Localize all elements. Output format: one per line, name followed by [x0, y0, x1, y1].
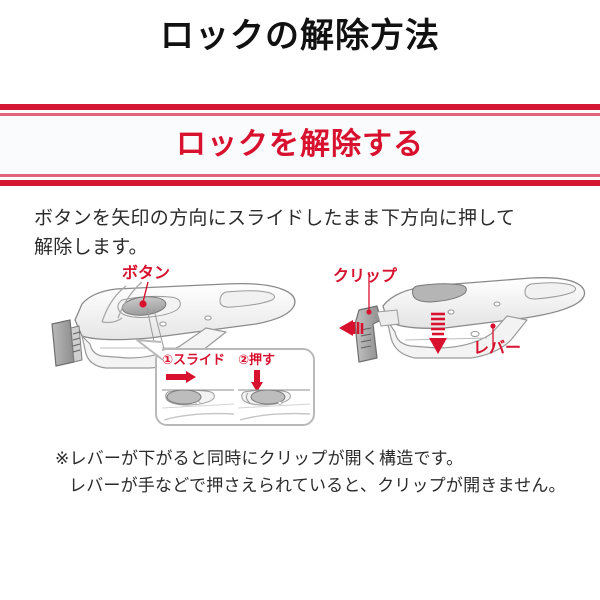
label-button: ボタン	[122, 265, 170, 281]
rivet-hole-1	[160, 322, 166, 326]
callout-panel-press: ②押す	[238, 354, 310, 422]
callout-panel-slide: ①スライド	[162, 354, 234, 422]
instruction-paragraph: ボタンを矢印の方向にスライドしたまま下方向に押して 解除します。	[34, 204, 574, 262]
clip-hinge-block	[377, 310, 399, 326]
callout-panel-press-label: ②押す	[238, 354, 310, 368]
arrow-down-icon	[251, 370, 263, 392]
note-line-2: レバーが手などで押さえられていると、クリップが開きません。	[55, 473, 575, 500]
rivet-hole-3	[471, 331, 479, 336]
label-clip: クリップ	[333, 268, 397, 284]
banner-rule-top-thin	[0, 113, 600, 116]
page-root: ロックの解除方法 ロックを解除する ボタンを矢印の方向にスライドしたまま下方向に…	[0, 0, 600, 600]
banner-rule-bottom-thin	[0, 174, 600, 177]
rivet-hole-2	[494, 302, 500, 306]
section-heading: ロックを解除する	[0, 121, 600, 169]
instruction-line-2: 解除します。	[34, 233, 574, 262]
callout-tail	[135, 338, 165, 364]
clip-jaw-outer	[52, 320, 74, 366]
callout-box: ①スライド ②押す	[155, 348, 315, 426]
note-block: ※レバーが下がると同時にクリップが開く構造です。 レバーが手などで押さえられてい…	[55, 446, 575, 500]
illustration-right-clip-lever: クリップ レバー	[325, 262, 590, 382]
panel-rivet	[196, 402, 200, 405]
clip-marker-dot	[366, 309, 371, 314]
note-line-1: ※レバーが下がると同時にクリップが開く構造です。	[55, 446, 575, 473]
arrow-left-dashed-icon	[339, 320, 362, 336]
panel-rivet	[278, 402, 282, 405]
callout-press-diagram	[238, 370, 310, 422]
panel-slide-button	[167, 390, 201, 404]
label-lever: レバー	[473, 340, 521, 356]
rivet-hole-2	[205, 316, 211, 320]
callout-panel-slide-label: ①スライド	[162, 354, 234, 368]
banner-rule-top-thick	[0, 104, 600, 110]
page-title: ロックの解除方法	[0, 14, 600, 58]
panel-lower-curve	[240, 414, 310, 420]
panel-lower-curve	[164, 414, 234, 420]
rivet-hole-1	[448, 310, 454, 314]
instruction-line-1: ボタンを矢印の方向にスライドしたまま下方向に押して	[34, 204, 574, 233]
section-banner: ロックを解除する	[0, 104, 600, 186]
callout-slide-diagram	[162, 370, 234, 422]
arrow-right-icon	[166, 371, 196, 383]
banner-rule-bottom-thick	[0, 180, 600, 186]
